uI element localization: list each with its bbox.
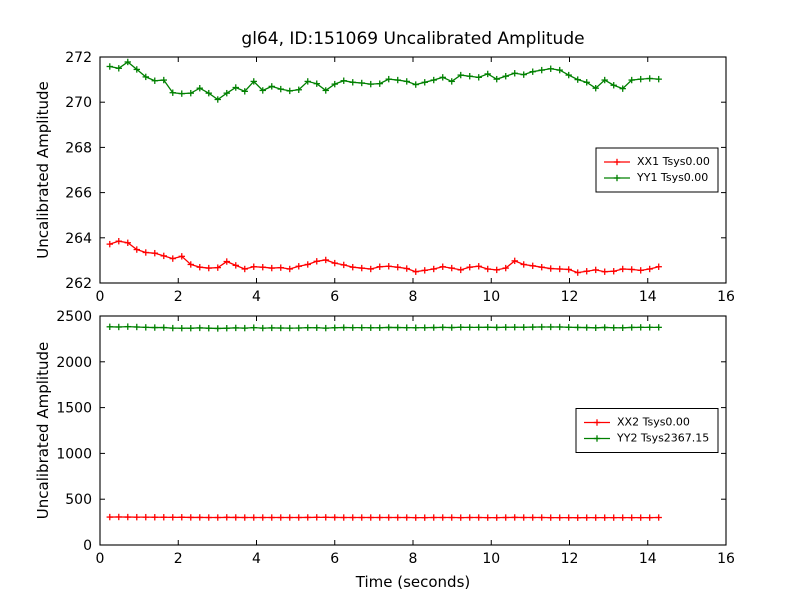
legend-bottom[interactable]: XX2 Tsys0.00YY2 Tsys2367.15 (576, 409, 718, 453)
plot-canvas: gl64, ID:151069 Uncalibrated Amplitude02… (0, 0, 800, 600)
legend-label-top-0: XX1 Tsys0.00 (637, 155, 710, 168)
y-tick-label-bottom-1500: 1500 (56, 401, 92, 417)
x-tick-label-top-8: 8 (409, 289, 418, 305)
x-tick-label-bottom-2: 2 (174, 551, 183, 567)
y-tick-label-bottom-500: 500 (65, 492, 92, 508)
series-line-top-0 (110, 241, 659, 272)
y-tick-label-top-266: 266 (65, 186, 92, 202)
x-tick-label-bottom-8: 8 (409, 551, 418, 567)
legend-label-bottom-0: XX2 Tsys0.00 (617, 416, 690, 429)
y-tick-label-bottom-0: 0 (83, 538, 92, 554)
x-tick-label-top-14: 14 (639, 289, 657, 305)
y-tick-label-bottom-2000: 2000 (56, 355, 92, 371)
y-tick-label-bottom-2500: 2500 (56, 309, 92, 325)
y-tick-label-top-268: 268 (65, 140, 92, 156)
series-markers-top-0 (107, 238, 662, 276)
legend-top[interactable]: XX1 Tsys0.00YY1 Tsys0.00 (596, 148, 718, 192)
series-bottom-1 (107, 323, 662, 331)
legend-label-top-1: YY1 Tsys0.00 (636, 171, 708, 184)
y-tick-label-top-262: 262 (65, 276, 92, 292)
series-top-1 (107, 59, 662, 103)
x-tick-label-top-6: 6 (330, 289, 339, 305)
axes-bottom: 024681012141605001000150020002500Uncalib… (34, 309, 735, 591)
x-axis-label-bottom: Time (seconds) (355, 573, 471, 591)
y-tick-label-top-272: 272 (65, 50, 92, 66)
figure-title: gl64, ID:151069 Uncalibrated Amplitude (241, 29, 584, 49)
series-top-0 (107, 238, 662, 276)
matplotlib-figure: gl64, ID:151069 Uncalibrated Amplitude02… (0, 0, 800, 600)
y-axis-label-top: Uncalibrated Amplitude (34, 81, 52, 258)
x-tick-label-top-0: 0 (96, 289, 105, 305)
series-bottom-0 (107, 514, 662, 521)
x-tick-label-top-16: 16 (717, 289, 735, 305)
y-axis-label-bottom: Uncalibrated Amplitude (34, 342, 52, 519)
x-tick-label-bottom-12: 12 (561, 551, 579, 567)
x-tick-label-bottom-16: 16 (717, 551, 735, 567)
x-tick-label-bottom-6: 6 (330, 551, 339, 567)
y-tick-label-top-264: 264 (65, 231, 92, 247)
y-tick-label-top-270: 270 (65, 95, 92, 111)
legend-label-bottom-1: YY2 Tsys2367.15 (616, 432, 709, 445)
x-tick-label-top-10: 10 (482, 289, 500, 305)
x-tick-label-bottom-4: 4 (252, 551, 261, 567)
y-tick-label-bottom-1000: 1000 (56, 446, 92, 462)
x-tick-label-bottom-14: 14 (639, 551, 657, 567)
x-tick-label-top-4: 4 (252, 289, 261, 305)
x-tick-label-bottom-10: 10 (482, 551, 500, 567)
x-tick-label-top-2: 2 (174, 289, 183, 305)
axes-top: 0246810121416262264266268270272Uncalibra… (34, 50, 735, 305)
x-tick-label-bottom-0: 0 (96, 551, 105, 567)
x-tick-label-top-12: 12 (561, 289, 579, 305)
series-line-top-1 (110, 62, 659, 100)
